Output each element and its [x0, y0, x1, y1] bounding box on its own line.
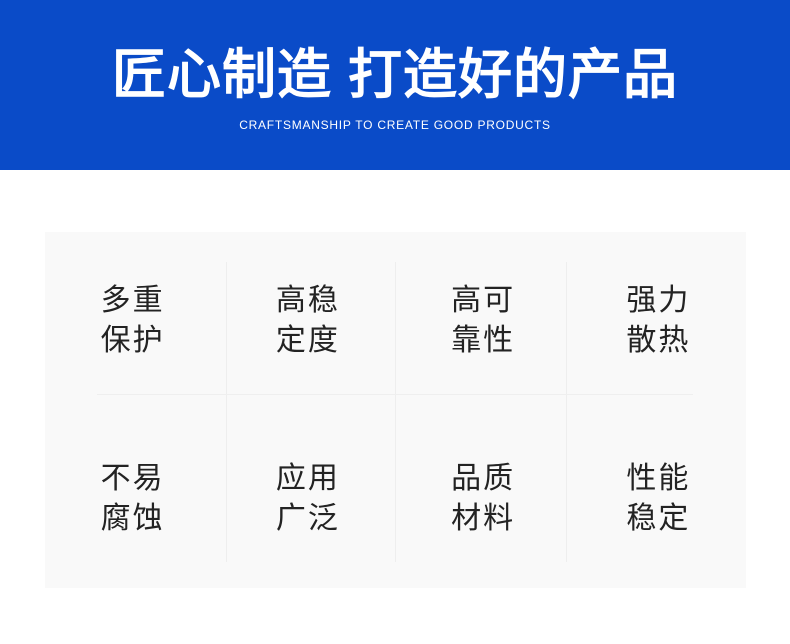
feature-label-4: 强力 散热	[626, 281, 690, 361]
grid-divider-horizontal	[97, 394, 693, 395]
feature-cell-4: 强力 散热	[571, 232, 746, 410]
feature-cell-6: 应用 广泛	[220, 410, 395, 588]
feature-cell-8: 性能 稳定	[571, 410, 746, 588]
feature-label-7: 品质 材料	[451, 459, 515, 539]
feature-label-8: 性能 稳定	[626, 459, 690, 539]
feature-label-6: 应用 广泛	[276, 459, 340, 539]
feature-panel: 多重 保护 高稳 定度 高可 靠性 强力 散热 不易 腐蚀 应用 广泛 品质 材…	[45, 232, 746, 588]
feature-cell-3: 高可 靠性	[396, 232, 571, 410]
grid-divider-vertical-2	[395, 262, 396, 562]
feature-label-1: 多重 保护	[101, 281, 165, 361]
feature-cell-7: 品质 材料	[396, 410, 571, 588]
grid-divider-vertical-3	[566, 262, 567, 562]
page-banner: 匠心制造 打造好的产品 CRAFTSMANSHIP TO CREATE GOOD…	[0, 0, 790, 170]
feature-cell-1: 多重 保护	[45, 232, 220, 410]
feature-label-3: 高可 靠性	[451, 281, 515, 361]
page-subtitle: CRAFTSMANSHIP TO CREATE GOOD PRODUCTS	[0, 117, 790, 133]
grid-divider-vertical-1	[226, 262, 227, 562]
page-title: 匠心制造 打造好的产品	[0, 44, 790, 106]
feature-cell-2: 高稳 定度	[220, 232, 395, 410]
feature-label-5: 不易 腐蚀	[101, 459, 165, 539]
feature-cell-5: 不易 腐蚀	[45, 410, 220, 588]
feature-label-2: 高稳 定度	[276, 281, 340, 361]
